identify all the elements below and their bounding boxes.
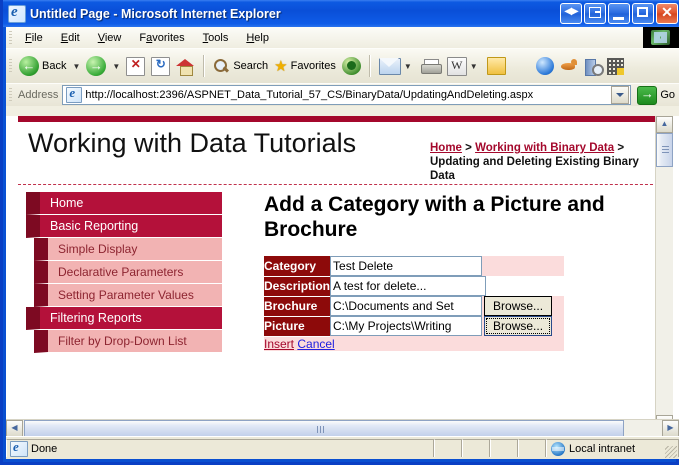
sidebar-nav: Home Basic Reporting Simple Display Decl… xyxy=(26,192,222,353)
sidebar-item-setting-parameter-values[interactable]: Setting Parameter Values xyxy=(34,284,222,307)
toolbar-separator-2 xyxy=(369,55,371,77)
messenger-button[interactable] xyxy=(533,52,557,80)
globe-icon xyxy=(551,442,565,456)
address-label: Address xyxy=(18,89,58,101)
address-input[interactable]: http://localhost:2396/ASPNET_Data_Tutori… xyxy=(62,85,631,105)
resize-grip[interactable] xyxy=(665,446,677,458)
sidebar-item-filter-by-drop-down-list[interactable]: Filter by Drop-Down List xyxy=(34,330,222,353)
search-icon xyxy=(213,58,230,75)
command-cell: Insert Cancel xyxy=(264,336,564,351)
scroll-left-button[interactable]: ◀ xyxy=(6,420,23,437)
security-zone-text: Local intranet xyxy=(569,443,635,455)
table-row-commands: Insert Cancel xyxy=(264,336,564,351)
label-category: Category xyxy=(264,256,330,276)
sidebar-item-declarative-parameters[interactable]: Declarative Parameters xyxy=(34,261,222,284)
status-text-pane: Done xyxy=(6,439,434,457)
main-content: Add a Category with a Picture and Brochu… xyxy=(264,192,634,351)
page-viewport: Working with Data Tutorials Home > Worki… xyxy=(6,116,679,432)
toolbar-separator-3 xyxy=(514,55,528,77)
label-brochure: Brochure xyxy=(264,296,330,316)
messenger-icon xyxy=(536,57,554,75)
vertical-scroll-thumb[interactable] xyxy=(656,133,673,167)
menu-tools[interactable]: Tools xyxy=(194,30,238,46)
scroll-right-button[interactable]: ▶ xyxy=(662,420,679,437)
horizontal-scroll-thumb[interactable] xyxy=(24,420,624,437)
table-row-brochure: Brochure C:\Documents and SetBrowse... xyxy=(264,296,564,316)
label-picture: Picture xyxy=(264,316,330,336)
edit-word-button[interactable]: ▼ xyxy=(444,52,484,80)
maximize-button[interactable] xyxy=(632,3,654,24)
toolbar-separator xyxy=(203,55,205,77)
history-icon xyxy=(342,57,361,75)
mail-dropdown-icon[interactable]: ▼ xyxy=(404,62,412,71)
printer-icon xyxy=(421,59,441,74)
category-input[interactable]: Test Delete xyxy=(330,256,482,276)
back-arrow-icon: ← xyxy=(19,56,39,76)
star-icon: ★ xyxy=(274,59,287,74)
table-row-picture: Picture C:\My Projects\WritingBrowse... xyxy=(264,316,564,336)
sidebar-item-filtering-reports[interactable]: Filtering Reports xyxy=(26,307,222,330)
status-text: Done xyxy=(31,443,57,455)
go-button[interactable]: Go xyxy=(633,86,679,105)
menu-help[interactable]: Help xyxy=(237,30,278,46)
search-label: Search xyxy=(233,60,268,72)
sidebar-item-simple-display[interactable]: Simple Display xyxy=(34,238,222,261)
field-description: A test for delete... xyxy=(330,276,486,296)
menu-file[interactable]: FFileile xyxy=(16,30,52,46)
encoding-icon xyxy=(607,58,624,75)
sidebar-item-basic-reporting[interactable]: Basic Reporting xyxy=(26,215,222,238)
menu-bar: FFileile Edit View Favorites Tools Help xyxy=(6,27,679,48)
field-brochure: C:\Documents and SetBrowse... xyxy=(330,296,564,316)
home-icon xyxy=(176,58,195,75)
mail-icon xyxy=(379,58,401,75)
sidebar-label: Filtering Reports xyxy=(50,311,142,325)
research-icon xyxy=(584,58,601,75)
field-picture: C:\My Projects\WritingBrowse... xyxy=(330,316,564,336)
status-pane-2 xyxy=(462,439,490,457)
tool-bar: ← Back ▼ → ▼ ✕ ↻ Search ★ xyxy=(6,48,679,83)
sidebar-label: Setting Parameter Values xyxy=(58,288,194,302)
table-row-category: Category Test Delete xyxy=(264,256,564,276)
notes-button[interactable] xyxy=(484,52,509,80)
stop-icon: ✕ xyxy=(126,57,145,76)
address-url-text: http://localhost:2396/ASPNET_Data_Tutori… xyxy=(85,89,611,101)
menu-view[interactable]: View xyxy=(89,30,131,46)
home-button[interactable] xyxy=(173,52,198,80)
breadcrumb-section[interactable]: Working with Binary Data xyxy=(475,142,614,154)
stop-button[interactable]: ✕ xyxy=(123,52,148,80)
address-dropdown-button[interactable] xyxy=(611,86,629,104)
go-label: Go xyxy=(660,89,675,101)
window-controls: ◀▶ ✕ xyxy=(560,3,678,24)
picture-browse-button[interactable]: Browse... xyxy=(484,316,552,336)
vertical-scrollbar[interactable]: ▲ ▼ xyxy=(655,116,673,432)
page-header: Working with Data Tutorials Home > Worki… xyxy=(18,122,658,184)
breadcrumb-current: Updating and Deleting Existing Binary Da… xyxy=(430,156,639,182)
forward-dropdown-icon[interactable]: ▼ xyxy=(112,62,120,71)
horizontal-scrollbar[interactable]: ◀ ▶ xyxy=(6,419,679,437)
page-title: Working with Data Tutorials xyxy=(28,128,356,159)
toolbar-grip[interactable] xyxy=(9,59,12,73)
breadcrumb-sep-2: > xyxy=(614,142,624,154)
fox-button[interactable] xyxy=(557,52,581,80)
window-title: Untitled Page - Microsoft Internet Explo… xyxy=(30,7,281,21)
forward-arrow-icon: → xyxy=(86,56,106,76)
ie-window: Untitled Page - Microsoft Internet Explo… xyxy=(0,0,679,465)
back-button[interactable]: ← Back xyxy=(16,52,69,80)
status-bar: Done Local intranet xyxy=(6,436,679,459)
favorites-button[interactable]: ★ Favorites xyxy=(271,52,339,80)
menu-edit[interactable]: Edit xyxy=(52,30,89,46)
menu-favorites[interactable]: Favorites xyxy=(130,30,193,46)
favorites-label: Favorites xyxy=(291,60,336,72)
cancel-link[interactable]: Cancel xyxy=(297,337,334,351)
mail-button[interactable]: ▼ xyxy=(376,52,418,80)
label-description: Description xyxy=(264,276,330,296)
status-pane-4 xyxy=(518,439,546,457)
address-grip[interactable] xyxy=(9,88,12,102)
status-pane-1 xyxy=(434,439,462,457)
sidebar-label: Basic Reporting xyxy=(50,219,138,233)
field-category: Test Delete xyxy=(330,256,486,276)
ie-animation-logo xyxy=(643,27,679,48)
history-button[interactable] xyxy=(339,52,364,80)
word-icon xyxy=(447,57,467,76)
picture-file-path[interactable]: C:\My Projects\Writing xyxy=(330,316,482,336)
status-pane-3 xyxy=(490,439,518,457)
forward-button[interactable]: → xyxy=(83,52,109,80)
brochure-browse-button[interactable]: Browse... xyxy=(484,296,552,316)
spacer-cell-1 xyxy=(486,256,564,276)
research-button[interactable] xyxy=(581,52,604,80)
spacer-cell-2 xyxy=(486,276,564,296)
web-page: Working with Data Tutorials Home > Worki… xyxy=(6,116,662,416)
breadcrumb-home[interactable]: Home xyxy=(430,142,462,154)
fox-icon xyxy=(560,58,578,74)
menu-grip[interactable] xyxy=(9,31,12,45)
refresh-icon: ↻ xyxy=(151,57,170,76)
sidebar-label: Simple Display xyxy=(58,242,137,256)
header-divider xyxy=(18,184,658,185)
search-button[interactable]: Search xyxy=(210,52,271,80)
page-icon xyxy=(66,87,82,103)
browser-chrome: FFileile Edit View Favorites Tools Help … xyxy=(6,27,679,117)
address-bar: Address http://localhost:2396/ASPNET_Dat… xyxy=(6,83,679,106)
sidebar-item-home[interactable]: Home xyxy=(26,192,222,215)
status-ie-icon xyxy=(10,441,28,457)
go-arrow-icon xyxy=(637,86,657,105)
note-icon xyxy=(487,57,506,75)
back-dropdown-icon[interactable]: ▼ xyxy=(72,62,80,71)
restore-window-button[interactable] xyxy=(584,3,606,24)
table-row-description: Description A test for delete... xyxy=(264,276,564,296)
refresh-button[interactable]: ↻ xyxy=(148,52,173,80)
title-bar: Untitled Page - Microsoft Internet Explo… xyxy=(3,0,679,27)
content-heading: Add a Category with a Picture and Brochu… xyxy=(264,192,634,242)
scroll-up-button[interactable]: ▲ xyxy=(656,116,673,133)
ie-page-icon xyxy=(8,5,26,23)
sidebar-label: Filter by Drop-Down List xyxy=(58,334,187,348)
breadcrumb-sep-1: > xyxy=(462,142,475,154)
brochure-file-path[interactable]: C:\Documents and Set xyxy=(330,296,482,316)
print-button[interactable] xyxy=(418,52,444,80)
breadcrumb: Home > Working with Binary Data > Updati… xyxy=(430,141,645,183)
sidebar-label: Home xyxy=(50,196,83,210)
edit-dropdown-icon[interactable]: ▼ xyxy=(470,62,478,71)
insert-link[interactable]: Insert xyxy=(264,337,294,351)
toggle-pane-button[interactable]: ◀▶ xyxy=(560,3,582,24)
encoding-button[interactable] xyxy=(604,52,627,80)
insert-form-table: Category Test Delete Description A test … xyxy=(264,256,564,351)
sidebar-label: Declarative Parameters xyxy=(58,265,183,279)
back-label: Back xyxy=(42,60,66,72)
close-button[interactable]: ✕ xyxy=(656,3,678,24)
security-zone-pane[interactable]: Local intranet xyxy=(546,439,679,457)
minimize-button[interactable] xyxy=(608,3,630,24)
description-input[interactable]: A test for delete... xyxy=(330,276,486,296)
